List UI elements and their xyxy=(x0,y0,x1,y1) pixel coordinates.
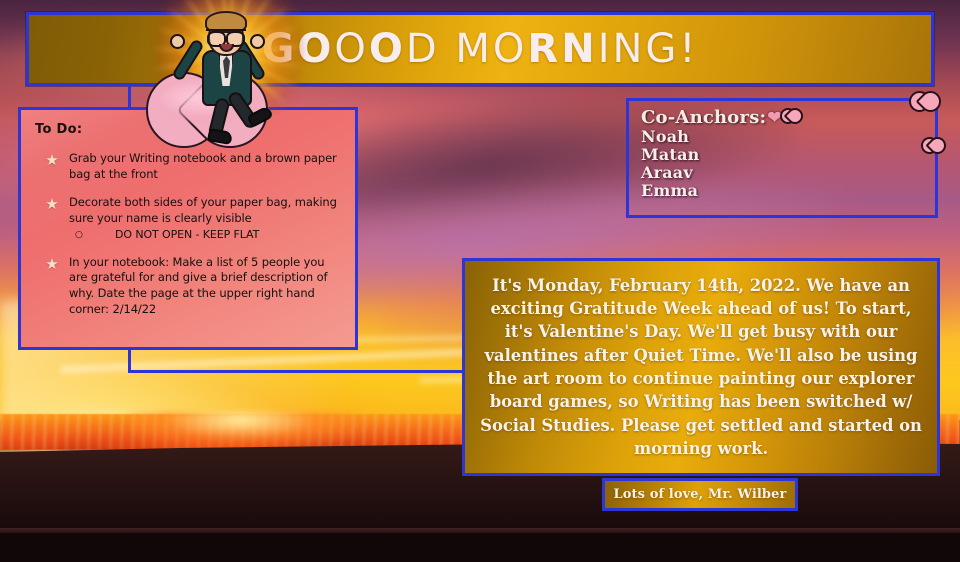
todo-item-text: Decorate both sides of your paper bag, m… xyxy=(69,195,337,225)
title-letter-group: RN xyxy=(527,26,597,72)
title-letter-group: D M xyxy=(406,26,493,72)
co-anchors-heading-label: Co-Anchors: xyxy=(641,109,766,128)
title-letter-group: O xyxy=(334,26,368,72)
daily-message-panel: It's Monday, February 14th, 2022. We hav… xyxy=(462,258,940,476)
title-letter-group: O xyxy=(493,26,527,72)
todo-sub-item-text: DO NOT OPEN - KEEP FLAT xyxy=(115,227,259,242)
page-title: GOOOD MORNING! xyxy=(262,29,699,69)
title-letter-group: ING! xyxy=(598,26,699,72)
todo-list-item: ★ In your notebook: Make a list of 5 peo… xyxy=(35,255,341,318)
title-letter-group: O xyxy=(369,26,406,72)
star-icon: ★ xyxy=(35,151,69,183)
todo-item-text: In your notebook: Make a list of 5 peopl… xyxy=(69,255,327,317)
todo-list-item: ★ Grab your Writing notebook and a brown… xyxy=(35,151,341,183)
signature-text: Lots of love, Mr. Wilber xyxy=(614,487,787,502)
glasses-icon xyxy=(206,29,246,41)
slide-canvas: GOOOD MORNING! To Do: ★ Grab your Writin… xyxy=(0,0,960,562)
avatar-fist-left xyxy=(170,34,185,49)
todo-sub-item: ○ DO NOT OPEN - KEEP FLAT xyxy=(75,227,341,242)
avatar-fist-right xyxy=(250,34,265,49)
connector-line-horizontal xyxy=(128,370,468,373)
star-icon: ★ xyxy=(35,195,69,243)
co-anchor-name: Matan xyxy=(641,146,935,164)
star-icon: ★ xyxy=(35,255,69,318)
co-anchor-name: Emma xyxy=(641,182,935,200)
daily-message-text: It's Monday, February 14th, 2022. We hav… xyxy=(479,274,923,460)
bitmoji-man-on-heart-icon xyxy=(140,0,326,146)
co-anchor-name: Araav xyxy=(641,164,935,182)
signature-panel: Lots of love, Mr. Wilber xyxy=(602,478,798,511)
bottom-black-bar xyxy=(0,533,960,562)
todo-list-item: ★ Decorate both sides of your paper bag,… xyxy=(35,195,341,243)
todo-item-text: Grab your Writing notebook and a brown p… xyxy=(69,151,337,181)
circle-icon: ○ xyxy=(75,227,115,242)
co-anchor-name: Noah xyxy=(641,128,935,146)
